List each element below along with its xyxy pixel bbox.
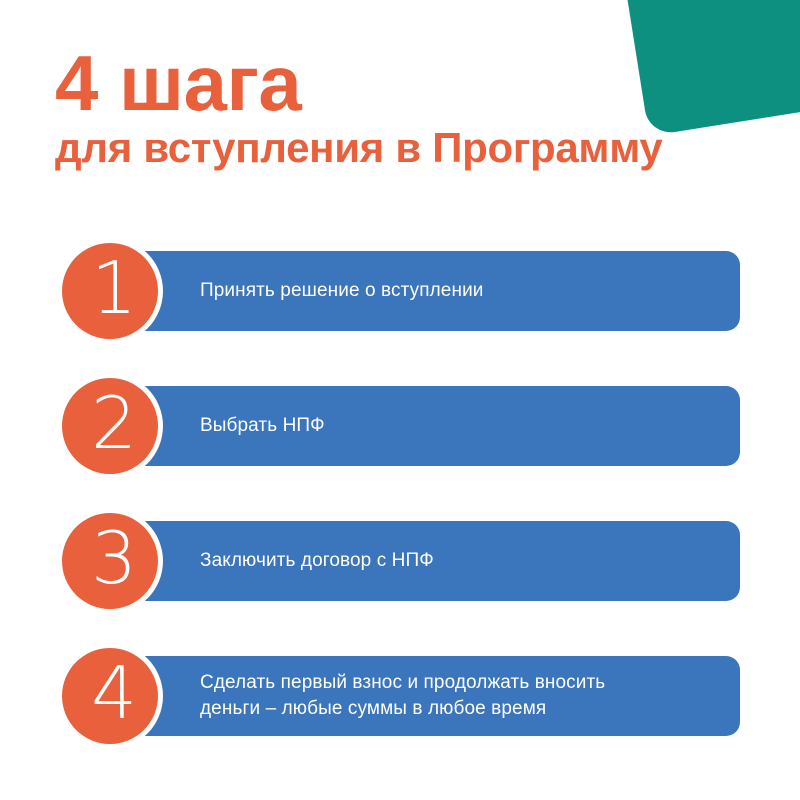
step-bar: Заключить договор с НПФ: [110, 521, 740, 601]
step-text-line-2: деньги – любые суммы в любое время: [200, 696, 605, 722]
step-text: Принять решение о вступлении: [110, 278, 508, 304]
step-bar: Выбрать НПФ: [110, 386, 740, 466]
infographic-poster: 4 шага для вступления в Программу Принят…: [0, 0, 800, 800]
headline-block: 4 шага для вступления в Программу: [55, 46, 755, 170]
headline-subtitle: для вступления в Программу: [55, 127, 755, 170]
step-number-label: 4: [91, 657, 137, 729]
step-text: Заключить договор с НПФ: [110, 548, 458, 574]
step-number-circle: 1: [62, 243, 158, 339]
step-row: Принять решение о вступлении 1: [0, 243, 800, 339]
steps-list: Принять решение о вступлении 1 Выбрать Н…: [0, 243, 800, 744]
step-bar: Принять решение о вступлении: [110, 251, 740, 331]
step-row: Выбрать НПФ 2: [0, 378, 800, 474]
step-text-line-1: Заключить договор с НПФ: [200, 550, 434, 571]
step-text-line-1: Принять решение о вступлении: [200, 280, 484, 301]
step-number-circle: 2: [62, 378, 158, 474]
step-text-line-1: Выбрать НПФ: [200, 415, 325, 436]
step-text-line-1: Сделать первый взнос и продолжать вносит…: [200, 672, 605, 693]
step-row: Сделать первый взнос и продолжать вносит…: [0, 648, 800, 744]
step-text: Сделать первый взнос и продолжать вносит…: [110, 670, 629, 721]
step-number-label: 2: [91, 387, 137, 459]
step-number-label: 3: [91, 522, 137, 594]
headline-main-title: 4 шага: [55, 46, 755, 121]
step-number-circle: 3: [62, 513, 158, 609]
step-bar: Сделать первый взнос и продолжать вносит…: [110, 656, 740, 736]
step-number-circle: 4: [62, 648, 158, 744]
step-number-label: 1: [91, 252, 137, 324]
step-row: Заключить договор с НПФ 3: [0, 513, 800, 609]
